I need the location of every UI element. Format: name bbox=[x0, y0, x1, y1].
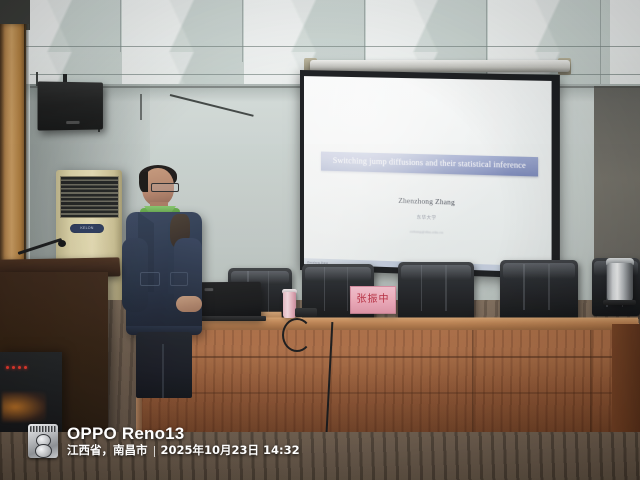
watermark-datetime: 2025年10月23日 14:32 bbox=[161, 445, 300, 457]
watermark-divider bbox=[154, 446, 155, 457]
presentation-slide: Switching jump diffusions and their stat… bbox=[304, 76, 552, 273]
electric-kettle bbox=[607, 263, 633, 303]
ceiling-seam bbox=[242, 0, 243, 62]
kettle-base bbox=[603, 300, 636, 305]
screen-surface: Switching jump diffusions and their stat… bbox=[304, 76, 552, 273]
led-indicator bbox=[24, 366, 27, 369]
projection-screen: Switching jump diffusions and their stat… bbox=[300, 70, 560, 279]
jacket-pocket bbox=[170, 272, 188, 286]
watermark-meta: 江西省，南昌市 2025年10月23日 14:32 bbox=[67, 445, 300, 457]
chair-highlight bbox=[503, 263, 575, 279]
ac-brand-label: KELON bbox=[70, 224, 104, 233]
wall-conduit-vertical bbox=[140, 94, 142, 120]
chair bbox=[398, 262, 474, 320]
camera-main-lens bbox=[35, 444, 52, 459]
vintage-camera-icon bbox=[28, 424, 58, 458]
slide-author: Zhenzhong Zhang bbox=[304, 194, 552, 209]
presenter-hands bbox=[176, 296, 202, 312]
desk-seam bbox=[142, 356, 640, 358]
av-status-leds bbox=[6, 366, 27, 369]
led-indicator bbox=[18, 366, 21, 369]
ac-brand-plate: KELON bbox=[70, 224, 104, 233]
chair-highlight bbox=[305, 267, 371, 282]
microphone-icon bbox=[58, 240, 66, 247]
slide-title: Switching jump diffusions and their stat… bbox=[323, 156, 536, 172]
ac-vent-grille bbox=[60, 176, 119, 218]
presenter bbox=[118, 168, 208, 398]
glasses-icon bbox=[151, 183, 179, 192]
av-amber-glow bbox=[2, 392, 46, 422]
door-frame-edge bbox=[24, 24, 29, 282]
laptop[interactable] bbox=[200, 282, 262, 318]
watermark-text-block: OPPO Reno13 江西省，南昌市 2025年10月23日 14:32 bbox=[67, 425, 300, 457]
desk-panel-divider bbox=[472, 330, 475, 442]
chair-highlight bbox=[401, 265, 471, 280]
photo-canvas: Switching jump diffusions and their stat… bbox=[0, 0, 640, 480]
presenter-leg-seam bbox=[162, 344, 164, 398]
jacket-pocket bbox=[140, 272, 160, 286]
microphone-base bbox=[295, 308, 317, 317]
camera-watermark: OPPO Reno13 江西省，南昌市 2025年10月23日 14:32 bbox=[28, 424, 300, 458]
desk-seam bbox=[142, 392, 640, 394]
desk-right-end bbox=[612, 324, 640, 448]
desk-panel-divider bbox=[590, 330, 593, 442]
speaker-badge bbox=[66, 121, 79, 124]
coiled-cable bbox=[282, 318, 312, 352]
presenter-hair-side bbox=[139, 172, 148, 192]
slide-title-banner: Switching jump diffusions and their stat… bbox=[321, 152, 538, 177]
name-placard: 张振中 bbox=[350, 286, 396, 314]
camera-hood bbox=[30, 426, 56, 432]
slide-email: zzhang@dhu.edu.cn bbox=[304, 227, 552, 239]
chair bbox=[500, 260, 578, 320]
slide-affiliation: 东华大学 bbox=[304, 211, 552, 225]
ceiling-seam bbox=[0, 46, 640, 47]
led-indicator bbox=[12, 366, 15, 369]
led-indicator bbox=[6, 366, 9, 369]
name-placard-text: 张振中 bbox=[351, 287, 395, 313]
watermark-brand: OPPO Reno13 bbox=[67, 425, 300, 442]
wall-speaker bbox=[38, 81, 103, 130]
presenter-legs bbox=[136, 332, 192, 398]
watermark-location: 江西省，南昌市 bbox=[67, 445, 148, 457]
ceiling-seam bbox=[120, 0, 121, 52]
wooden-door-frame bbox=[0, 24, 26, 282]
ceiling-seam bbox=[600, 0, 601, 86]
